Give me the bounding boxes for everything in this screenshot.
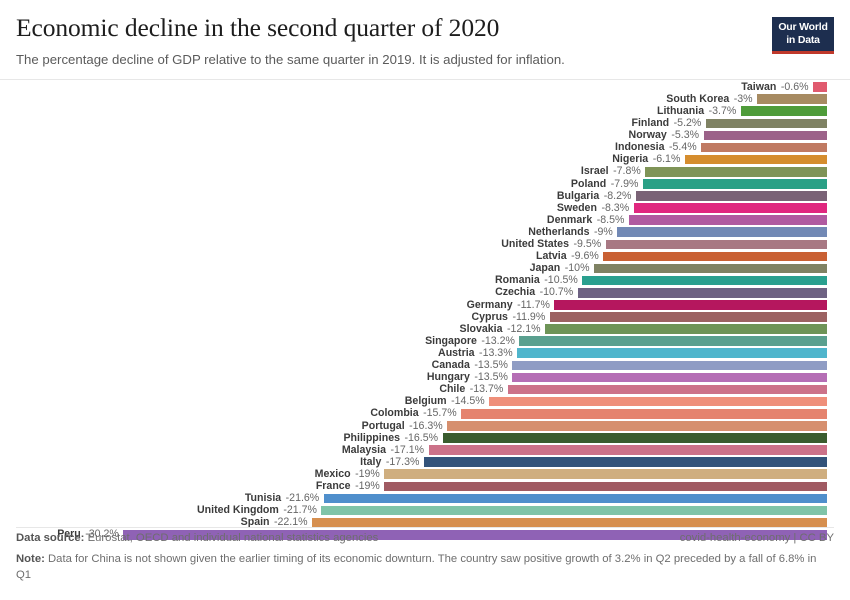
bar-country-label: United Kingdom (197, 505, 279, 516)
bar-country-label: Lithuania (657, 106, 704, 117)
bar-rect[interactable] (701, 143, 827, 153)
bar-rect[interactable] (685, 155, 827, 165)
bar-value-label: -0.6% (781, 82, 809, 93)
bar-country-label: Singapore (425, 336, 477, 347)
bar-rect[interactable] (545, 324, 827, 334)
bar-country-label: Belgium (405, 396, 447, 407)
bar-value-label: -10% (565, 263, 590, 274)
bar-rect[interactable] (512, 361, 827, 371)
horizontal-bar-chart: Taiwan-0.6%South Korea-3%Lithuania-3.7%F… (0, 80, 850, 527)
bar-row[interactable]: France-19% (0, 480, 850, 492)
bar-country-label: Sweden (557, 203, 597, 214)
bar-value-label: -21.7% (283, 505, 317, 516)
bar-country-label: Finland (631, 118, 669, 129)
bar-row[interactable]: Philippines-16.5% (0, 432, 850, 444)
bar-value-label: -5.4% (669, 142, 697, 153)
bar-value-label: -13.7% (470, 384, 504, 395)
bar-country-label: Czechia (495, 287, 535, 298)
bar-row[interactable]: Lithuania-3.7% (0, 105, 850, 117)
note-label: Note: (16, 553, 45, 565)
data-source-label: Data source: (16, 532, 84, 544)
bar-rect[interactable] (461, 409, 827, 419)
bar-rect[interactable] (508, 385, 827, 395)
bar-value-label: -19% (355, 469, 380, 480)
bar-rect[interactable] (443, 433, 827, 443)
bar-country-label: Norway (629, 130, 667, 141)
bar-rect[interactable] (706, 119, 827, 129)
chart-footer: Data source: Eurostat, OECD and individu… (16, 531, 834, 583)
bar-row[interactable]: Latvia-9.6% (0, 250, 850, 262)
bar-rect[interactable] (603, 252, 827, 262)
bar-value-label: -21.6% (286, 493, 320, 504)
bar-row[interactable]: Israel-7.8% (0, 166, 850, 178)
bar-value-label: -13.5% (474, 360, 508, 371)
bar-rect[interactable] (429, 445, 827, 455)
bar-value-label: -12.1% (507, 324, 541, 335)
bar-row[interactable]: Austria-13.3% (0, 347, 850, 359)
bar-rect[interactable] (324, 494, 827, 504)
data-source-text: Data source: Eurostat, OECD and individu… (16, 532, 378, 544)
bar-row[interactable]: Slovakia-12.1% (0, 323, 850, 335)
bar-row[interactable]: Mexico-19% (0, 468, 850, 480)
bar-row[interactable]: Bulgaria-8.2% (0, 190, 850, 202)
bar-row[interactable]: Italy-17.3% (0, 456, 850, 468)
bar-row[interactable]: Sweden-8.3% (0, 202, 850, 214)
our-world-in-data-logo[interactable]: Our World in Data (772, 17, 834, 54)
bar-country-label: Bulgaria (557, 191, 599, 202)
bar-row[interactable]: Singapore-13.2% (0, 335, 850, 347)
bar-row[interactable]: Norway-5.3% (0, 129, 850, 141)
bar-country-label: Canada (432, 360, 470, 371)
bar-rect[interactable] (554, 300, 827, 310)
bar-country-label: Portugal (362, 421, 405, 432)
bar-row[interactable]: Indonesia-5.4% (0, 142, 850, 154)
bar-rect[interactable] (550, 312, 827, 322)
bar-row[interactable]: Denmark-8.5% (0, 214, 850, 226)
bar-rect[interactable] (594, 264, 827, 274)
bar-country-label: Hungary (427, 372, 470, 383)
bar-value-label: -8.3% (601, 203, 629, 214)
bar-rect[interactable] (512, 373, 827, 383)
bar-value-label: -14.5% (451, 396, 485, 407)
bar-rect[interactable] (757, 94, 827, 104)
bar-row[interactable]: Nigeria-6.1% (0, 154, 850, 166)
bar-country-label: Germany (467, 300, 513, 311)
bar-value-label: -13.3% (479, 348, 513, 359)
bar-country-label: Poland (571, 179, 606, 190)
bar-value-label: -13.5% (474, 372, 508, 383)
bar-value-label: -10.7% (540, 287, 574, 298)
bar-value-label: -17.1% (391, 445, 425, 456)
bar-rect[interactable] (321, 506, 827, 516)
bar-value-label: -9% (594, 227, 613, 238)
bar-row[interactable]: Portugal-16.3% (0, 420, 850, 432)
bar-value-label: -8.2% (604, 191, 632, 202)
logo-line-2: in Data (777, 34, 829, 47)
footer-divider (16, 527, 834, 528)
bar-country-label: Nigeria (612, 154, 648, 165)
bar-value-label: -5.3% (671, 130, 699, 141)
bar-country-label: Latvia (536, 251, 567, 262)
bar-row[interactable]: South Korea-3% (0, 93, 850, 105)
bar-value-label: -11.7% (517, 300, 550, 311)
bar-value-label: -17.3% (386, 457, 420, 468)
bar-row[interactable]: Colombia-15.7% (0, 408, 850, 420)
bar-value-label: -5.2% (674, 118, 702, 129)
bar-row[interactable]: Belgium-14.5% (0, 396, 850, 408)
bar-value-label: -3% (734, 94, 753, 105)
bar-row[interactable]: Taiwan-0.6% (0, 81, 850, 93)
bar-row[interactable]: Germany-11.7% (0, 299, 850, 311)
bar-row[interactable]: United States-9.5% (0, 238, 850, 250)
bar-row[interactable]: Canada-13.5% (0, 359, 850, 371)
bar-rect[interactable] (634, 203, 827, 213)
bar-country-label: Taiwan (741, 82, 776, 93)
bar-row[interactable]: Hungary-13.5% (0, 371, 850, 383)
bar-value-label: -3.7% (709, 106, 737, 117)
bar-row[interactable]: United Kingdom-21.7% (0, 505, 850, 517)
bar-rect[interactable] (517, 348, 827, 358)
bar-country-label: Denmark (547, 215, 592, 226)
bar-value-label: -8.5% (597, 215, 625, 226)
bar-row[interactable]: Romania-10.5% (0, 275, 850, 287)
bar-rect[interactable] (617, 227, 827, 237)
logo-line-1: Our World (777, 21, 829, 34)
bar-row[interactable]: Japan-10% (0, 263, 850, 275)
bar-value-label: -13.2% (481, 336, 515, 347)
data-source-value: Eurostat, OECD and individual national s… (84, 532, 378, 544)
bar-value-label: -15.7% (423, 408, 457, 419)
bar-country-label: Israel (581, 166, 609, 177)
bar-rect[interactable] (519, 336, 827, 346)
bar-country-label: Chile (439, 384, 465, 395)
bar-rect[interactable] (312, 518, 827, 528)
bar-value-label: -11.9% (512, 312, 545, 323)
bar-country-label: Japan (530, 263, 561, 274)
bar-rect[interactable] (384, 469, 827, 479)
bar-row[interactable]: Tunisia-21.6% (0, 492, 850, 504)
bar-value-label: -7.9% (611, 179, 639, 190)
bar-country-label: Italy (360, 457, 381, 468)
bar-rect[interactable] (629, 215, 827, 225)
bar-country-label: Indonesia (615, 142, 664, 153)
bar-rect[interactable] (636, 191, 827, 201)
bar-country-label: Romania (495, 275, 540, 286)
note-text: Data for China is not shown given the ea… (16, 553, 816, 581)
bar-rect[interactable] (582, 276, 827, 286)
bar-country-label: Philippines (343, 433, 400, 444)
page-subtitle: The percentage decline of GDP relative t… (16, 52, 834, 69)
bar-rect[interactable] (447, 421, 827, 431)
bar-rect[interactable] (578, 288, 827, 298)
bar-rect[interactable] (424, 457, 827, 467)
bar-value-label: -10.5% (544, 275, 578, 286)
license-text[interactable]: covid-health-economy | CC BY (680, 532, 834, 544)
bar-value-label: -9.6% (571, 251, 599, 262)
bar-value-label: -16.5% (404, 433, 438, 444)
footer-top-line: Data source: Eurostat, OECD and individu… (16, 531, 834, 548)
bar-row[interactable]: Czechia-10.7% (0, 287, 850, 299)
bar-rect[interactable] (813, 82, 827, 92)
bar-row[interactable]: Cyprus-11.9% (0, 311, 850, 323)
bar-value-label: -6.1% (653, 154, 681, 165)
bar-row[interactable]: Malaysia-17.1% (0, 444, 850, 456)
bar-value-label: -19% (355, 481, 380, 492)
bar-rect[interactable] (704, 131, 827, 141)
bar-row[interactable]: Netherlands-9% (0, 226, 850, 238)
bar-rect[interactable] (384, 482, 827, 492)
bar-rect[interactable] (643, 179, 827, 189)
bar-rect[interactable] (606, 240, 827, 250)
chart-header: Economic decline in the second quarter o… (0, 0, 850, 79)
bar-value-label: -7.8% (613, 166, 641, 177)
bar-rect[interactable] (489, 397, 827, 407)
bar-rect[interactable] (741, 106, 827, 116)
bar-country-label: South Korea (666, 94, 729, 105)
bar-value-label: -9.5% (573, 239, 601, 250)
bar-country-label: Tunisia (245, 493, 281, 504)
page-title: Economic decline in the second quarter o… (16, 14, 834, 42)
bar-country-label: Netherlands (528, 227, 589, 238)
bar-country-label: United States (501, 239, 569, 250)
bar-country-label: Cyprus (471, 312, 508, 323)
bar-country-label: Colombia (370, 408, 418, 419)
bar-country-label: Slovakia (460, 324, 503, 335)
bar-rect[interactable] (645, 167, 827, 177)
footer-note: Note: Data for China is not shown given … (16, 551, 834, 583)
bar-row[interactable]: Poland-7.9% (0, 178, 850, 190)
chart-page: Economic decline in the second quarter o… (0, 0, 850, 600)
bar-country-label: Malaysia (342, 445, 386, 456)
bar-value-label: -16.3% (409, 421, 443, 432)
bar-row[interactable]: Chile-13.7% (0, 384, 850, 396)
bar-country-label: France (316, 481, 351, 492)
bar-country-label: Mexico (315, 469, 351, 480)
bar-row[interactable]: Finland-5.2% (0, 117, 850, 129)
bar-country-label: Austria (438, 348, 475, 359)
